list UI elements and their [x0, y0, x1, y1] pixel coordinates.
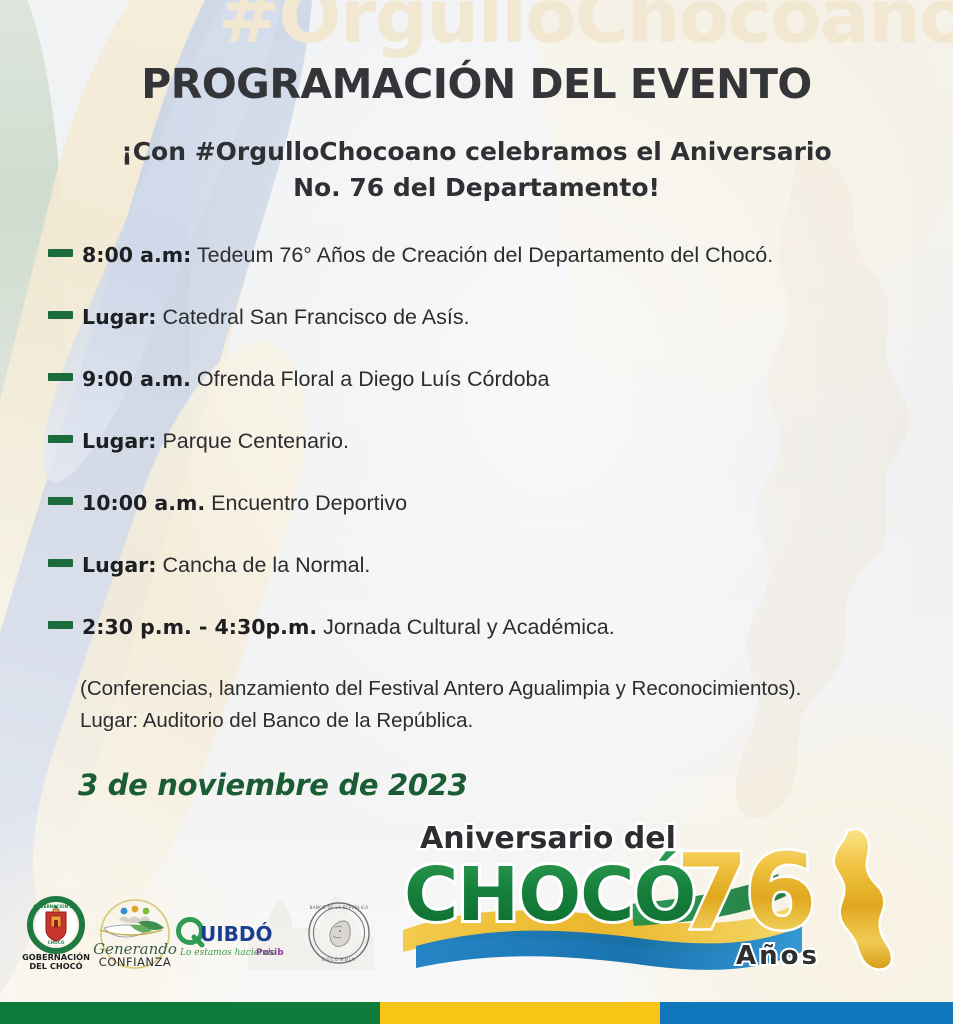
schedule-note: (Conferencias, lanzamiento del Festival …: [80, 673, 900, 737]
hashtag-watermark-text: #OrgulloChocoano: [218, 0, 953, 54]
logo-quibdo-line-1: UIBDÓ: [200, 922, 273, 946]
dash-bullet-icon: [48, 311, 73, 319]
page-subtitle: ¡Con #OrgulloChocoano celebramos el Aniv…: [0, 134, 953, 206]
schedule-item-label: Lugar:: [82, 429, 156, 453]
schedule-item: 9:00 a.m. Ofrenda Floral a Diego Luís Có…: [48, 367, 908, 429]
schedule-item-text: 2:30 p.m. - 4:30p.m. Jornada Cultural y …: [82, 615, 615, 640]
dash-bullet-icon: [48, 373, 73, 381]
logo-quibdo: UIBDÓ Lo estamos haciendo Posible: [176, 904, 284, 964]
note-line-1: (Conferencias, lanzamiento del Festival …: [80, 673, 900, 705]
dash-bullet-icon: [48, 621, 73, 629]
schedule-item-text: 10:00 a.m. Encuentro Deportivo: [82, 491, 407, 516]
schedule-item: Lugar: Parque Centenario.: [48, 429, 908, 491]
anniversary-top-text: Aniversario del: [420, 821, 676, 856]
event-program-poster: #OrgulloChocoano PROGRAMACIÓN DEL EVENTO…: [0, 0, 953, 1024]
note-line-2: Lugar: Auditorio del Banco de la Repúbli…: [80, 705, 900, 737]
dash-bullet-icon: [48, 559, 73, 567]
schedule-item-description: Parque Centenario.: [156, 429, 348, 453]
logo-gobernacion-del-choco: GOBERNACION DEL CHOCO GOBERNACIÓN DEL CH…: [20, 896, 92, 972]
schedule-item-label: 2:30 p.m. - 4:30p.m.: [82, 615, 317, 639]
schedule-item-label: 9:00 a.m.: [82, 367, 191, 391]
schedule-item-label: 10:00 a.m.: [82, 491, 205, 515]
logo-generando-confianza: Generando CONFIANZA: [92, 896, 178, 972]
schedule-item-text: Lugar: Catedral San Francisco de Asís.: [82, 305, 470, 330]
schedule-item: 8:00 a.m: Tedeum 76° Años de Creación de…: [48, 243, 908, 305]
anniversary-years-text: Años: [736, 941, 820, 971]
anniversary-number: 76: [676, 831, 813, 953]
page-title: PROGRAMACIÓN DEL EVENTO: [0, 60, 953, 108]
schedule-list: 8:00 a.m: Tedeum 76° Años de Creación de…: [48, 243, 908, 677]
schedule-item-description: Ofrenda Floral a Diego Luís Córdoba: [191, 367, 550, 391]
schedule-item-description: Tedeum 76° Años de Creación del Departam…: [191, 243, 773, 267]
schedule-item-description: Catedral San Francisco de Asís.: [156, 305, 469, 329]
schedule-item-description: Jornada Cultural y Académica.: [317, 615, 615, 639]
choco-map-gold-icon: [834, 829, 892, 970]
subtitle-line-1: ¡Con #OrgulloChocoano celebramos el Aniv…: [0, 134, 953, 170]
schedule-item: Lugar: Catedral San Francisco de Asís.: [48, 305, 908, 367]
bottom-bar-segment-blue: [660, 1002, 953, 1024]
schedule-item-text: Lugar: Cancha de la Normal.: [82, 553, 370, 578]
logo-banrep-line-1: BANCO DE LA REPÚBLICA: [310, 905, 369, 910]
dash-bullet-icon: [48, 435, 73, 443]
schedule-item-description: Cancha de la Normal.: [156, 553, 370, 577]
event-date: 3 de noviembre de 2023: [78, 768, 468, 802]
anniversary-emblem: Aniversario del CHOCÓ 76 Años: [398, 812, 918, 980]
dash-bullet-icon: [48, 249, 73, 257]
schedule-item: 10:00 a.m. Encuentro Deportivo: [48, 491, 908, 553]
anniversary-main-text: CHOCÓ: [404, 850, 695, 938]
svg-text:Posible: Posible: [256, 948, 284, 958]
logo-generando-line-2: CONFIANZA: [99, 955, 171, 969]
bottom-tricolor-bar: [0, 1002, 953, 1024]
logo-banrep-line-2: COLOMBIA: [322, 957, 356, 963]
schedule-item-text: Lugar: Parque Centenario.: [82, 429, 349, 454]
schedule-item-text: 8:00 a.m: Tedeum 76° Años de Creación de…: [82, 243, 773, 268]
schedule-item-label: Lugar:: [82, 305, 156, 329]
dash-bullet-icon: [48, 497, 73, 505]
schedule-item-label: Lugar:: [82, 553, 156, 577]
schedule-item-text: 9:00 a.m. Ofrenda Floral a Diego Luís Có…: [82, 367, 549, 392]
bottom-bar-segment-green: [0, 1002, 380, 1024]
schedule-item-description: Encuentro Deportivo: [205, 491, 407, 515]
schedule-item-label: 8:00 a.m:: [82, 243, 191, 267]
sponsor-logo-strip: GOBERNACION DEL CHOCO GOBERNACIÓN DEL CH…: [8, 892, 388, 972]
bottom-bar-segment-yellow: [380, 1002, 660, 1024]
schedule-item: 2:30 p.m. - 4:30p.m. Jornada Cultural y …: [48, 615, 908, 677]
schedule-item: Lugar: Cancha de la Normal.: [48, 553, 908, 615]
subtitle-line-2: No. 76 del Departamento!: [0, 170, 953, 206]
logo-banco-de-la-republica: BANCO DE LA REPÚBLICA COLOMBIA: [304, 898, 374, 968]
logo-gobernacion-line-2: DEL CHOCÓ: [29, 960, 82, 971]
